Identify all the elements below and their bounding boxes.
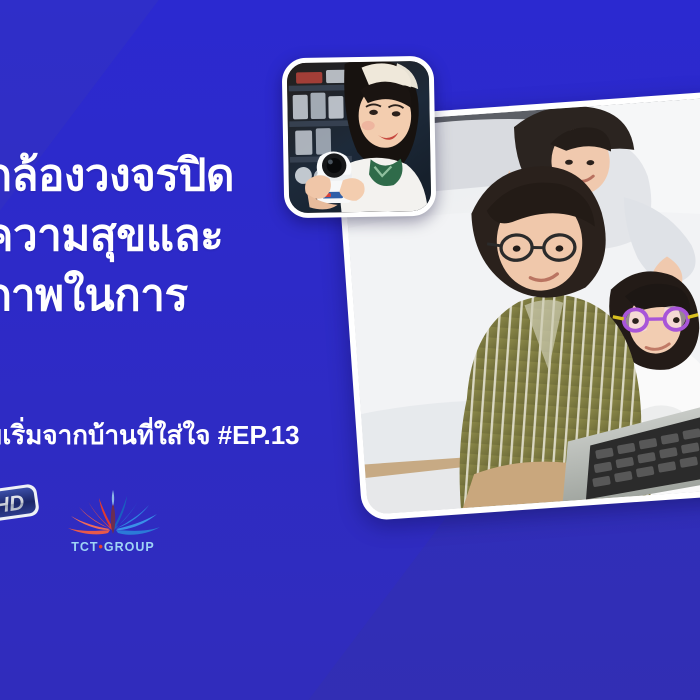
- tct-group-logo: TCT•GROUP: [57, 474, 169, 554]
- promo-banner: ช้กล้องวงจรปิด ่มความสุขและ ธิภาพในการ ภ…: [0, 0, 700, 700]
- woman-holding-security-camera: [282, 56, 437, 219]
- tct-word-left: TCT: [71, 540, 98, 554]
- tct-word-right: GROUP: [104, 540, 155, 554]
- tct-phoenix-icon: [57, 474, 169, 536]
- camera-photo-illustration: [287, 61, 432, 213]
- subtitle: ภัยเริ่มจากบ้านที่ใส่ใจ #EP.13: [0, 419, 300, 453]
- headline-line-3: ธิภาพในการ: [0, 266, 336, 326]
- tct-group-wordmark: TCT•GROUP: [57, 540, 169, 554]
- headline-line-2: ่มความสุขและ: [0, 206, 336, 266]
- hd-badge-icon: HD: [0, 481, 42, 525]
- hd-badge-logo: HD: [0, 481, 42, 525]
- svg-text:HD: HD: [0, 491, 26, 518]
